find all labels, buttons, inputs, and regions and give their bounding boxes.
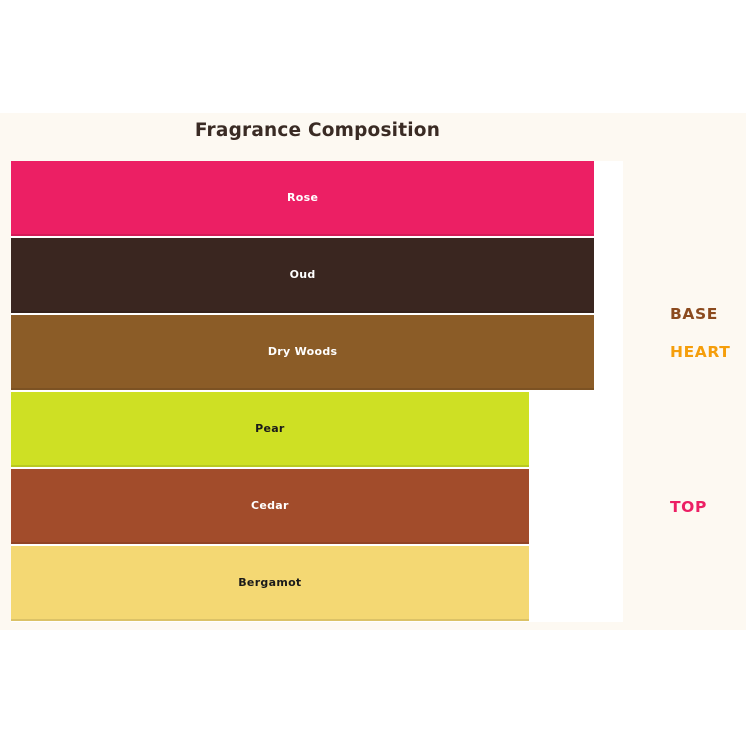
bar-label: Pear — [255, 422, 285, 435]
chart-figure: Fragrance Composition RoseOudDry WoodsPe… — [0, 113, 746, 630]
bar-segment[interactable]: Bergamot — [11, 546, 529, 621]
bar-segment[interactable]: Cedar — [11, 469, 529, 544]
bar-label: Cedar — [251, 499, 289, 512]
chart-title: Fragrance Composition — [0, 120, 635, 141]
bar-label: Bergamot — [238, 576, 301, 589]
bar-segment[interactable]: Dry Woods — [11, 315, 594, 390]
bar-label: Rose — [287, 191, 318, 204]
bar-segment[interactable]: Oud — [11, 238, 594, 313]
bar-segment[interactable]: Pear — [11, 392, 529, 467]
group-annotation: TOP — [670, 498, 707, 516]
group-annotation: HEART — [670, 343, 730, 361]
bar-segment[interactable]: Rose — [11, 161, 594, 236]
bar-label: Dry Woods — [268, 345, 338, 358]
group-annotation: BASE — [670, 305, 718, 323]
screenshot-root: Fragrance Composition RoseOudDry WoodsPe… — [0, 0, 746, 746]
bar-label: Oud — [290, 268, 316, 281]
bar-series: RoseOudDry WoodsPearCedarBergamot — [11, 161, 623, 622]
